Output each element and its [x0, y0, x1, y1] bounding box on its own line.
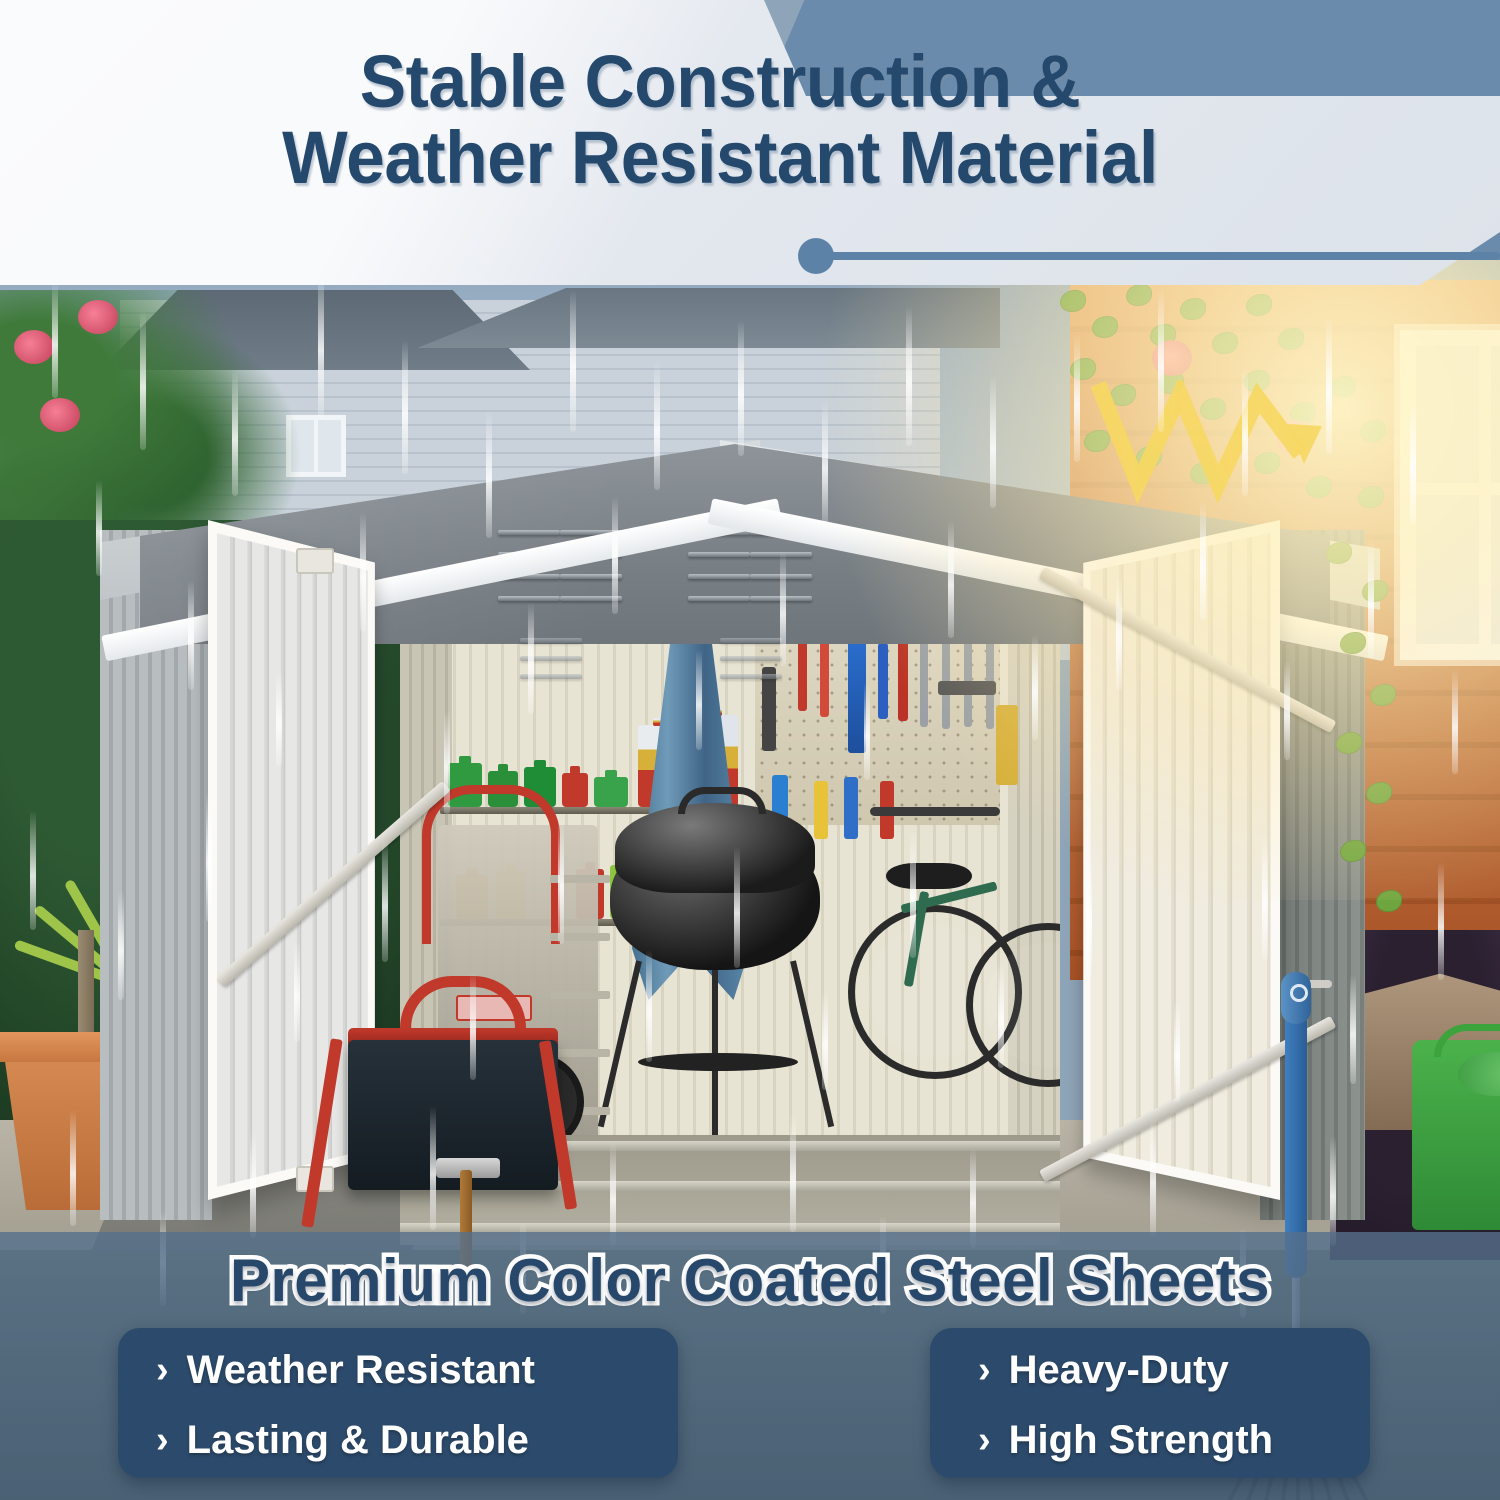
feature-row: › Weather Resistant [118, 1328, 678, 1390]
header-divider-line [812, 252, 1500, 260]
chevron-right-icon: › [978, 1351, 991, 1389]
footer-title: Premium Color Coated Steel Sheets [0, 1246, 1500, 1315]
handlebar [870, 807, 1000, 816]
page-title-line-2: Weather Resistant Material [43, 120, 1397, 196]
brick-house-window [1400, 330, 1500, 660]
durability-box: › Weather Resistant › Lasting & Durable [118, 1328, 678, 1478]
product-infographic: Stable Construction & Weather Resistant … [0, 0, 1500, 1500]
feature-label: Lasting & Durable [187, 1420, 529, 1460]
chevron-right-icon: › [156, 1351, 169, 1389]
grill-handle [678, 787, 766, 814]
screwdriver-blue [878, 643, 888, 719]
feature-label: Heavy-Duty [1009, 1350, 1229, 1390]
paint-can [562, 773, 588, 807]
storage-shed [100, 380, 1360, 1220]
header-divider-dot [798, 238, 834, 274]
tape-measure [938, 681, 996, 695]
interior-vent [720, 638, 782, 724]
feature-row: › Heavy-Duty [930, 1328, 1370, 1390]
pliers-blue [844, 777, 858, 839]
screwdriver-red [798, 637, 807, 711]
watering-can [1412, 1040, 1500, 1230]
feature-label: High Strength [1009, 1420, 1273, 1460]
charcoal-grill-lid [615, 803, 815, 893]
bike-saddle [886, 863, 972, 889]
page-title: Stable Construction & Weather Resistant … [43, 44, 1397, 196]
feature-label: Weather Resistant [187, 1350, 535, 1390]
grill-lower-shelf [638, 1053, 798, 1071]
paint-can [594, 777, 628, 807]
screwdriver-red [820, 637, 829, 717]
feature-row: › High Strength [930, 1390, 1370, 1460]
screwdriver-red2 [898, 641, 908, 721]
chevron-right-icon: › [978, 1421, 991, 1459]
gable-vent [688, 530, 750, 616]
footer-banner: Premium Color Coated Steel Sheets › Weat… [0, 1232, 1500, 1500]
wrench [920, 637, 928, 727]
header-banner: Stable Construction & Weather Resistant … [0, 0, 1500, 290]
interior-vent [520, 638, 582, 724]
pliers-yellow [814, 781, 828, 839]
rake-grip [1281, 972, 1311, 1024]
hand-cart-handle [422, 785, 560, 944]
chevron-right-icon: › [156, 1421, 169, 1459]
interior-right-wall [1008, 585, 1060, 1220]
level-blue [848, 635, 866, 753]
feature-row: › Lasting & Durable [118, 1390, 678, 1460]
strength-box: › Heavy-Duty › High Strength [930, 1328, 1370, 1478]
saw [996, 705, 1018, 785]
page-title-line-1: Stable Construction & [43, 44, 1397, 120]
door-hinge [296, 548, 334, 574]
